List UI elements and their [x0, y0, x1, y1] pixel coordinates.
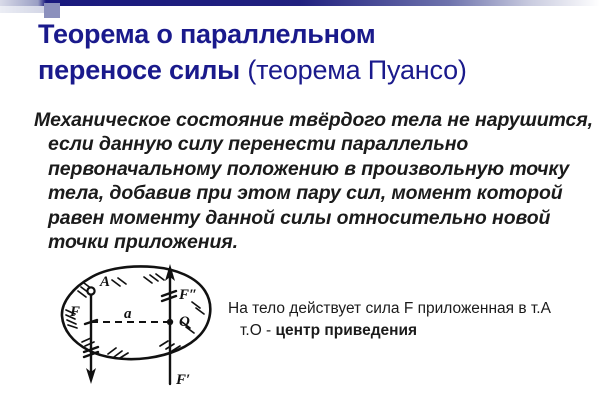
diagram-label-point-o: O — [179, 314, 190, 330]
caption-line-1: На тело действует сила F приложенная в т… — [228, 300, 551, 317]
diagram-caption: На тело действует сила F приложенная в т… — [228, 298, 588, 342]
diagram-label-force-f-double-prime: F″ — [178, 287, 197, 303]
diagram-point-o-marker — [167, 319, 173, 325]
diagram-force-f-vector — [84, 291, 98, 384]
diagram-label-point-a: A — [99, 274, 110, 290]
diagram-label-distance-a: a — [124, 306, 132, 322]
slide-title-line-1: Теорема о параллельном — [38, 19, 376, 49]
diagram-point-a-marker — [87, 287, 94, 294]
diagram-label-force-f: F — [69, 304, 80, 320]
caption-line-2-prefix: т.О - — [240, 322, 276, 339]
slide-title: Теорема о параллельном переносе силы (те… — [38, 16, 586, 88]
force-transfer-diagram: A F a O F″ F′ — [48, 258, 223, 394]
slide-title-line-2-normal: (теорема Пуансо) — [247, 55, 466, 85]
slide-top-decoration-bar — [0, 0, 600, 12]
theorem-statement-paragraph: Механическое состояние твёрдого тела не … — [34, 108, 600, 254]
topbar-gradient-stripe — [0, 0, 600, 6]
caption-line-2-emphasis: центр приведения — [276, 322, 418, 339]
slide-title-line-2-bold: переносе силы — [38, 55, 240, 85]
diagram-label-force-f-prime: F′ — [175, 372, 190, 388]
caption-line-2: т.О - центр приведения — [228, 320, 588, 342]
diagram-body-outline — [62, 266, 210, 359]
